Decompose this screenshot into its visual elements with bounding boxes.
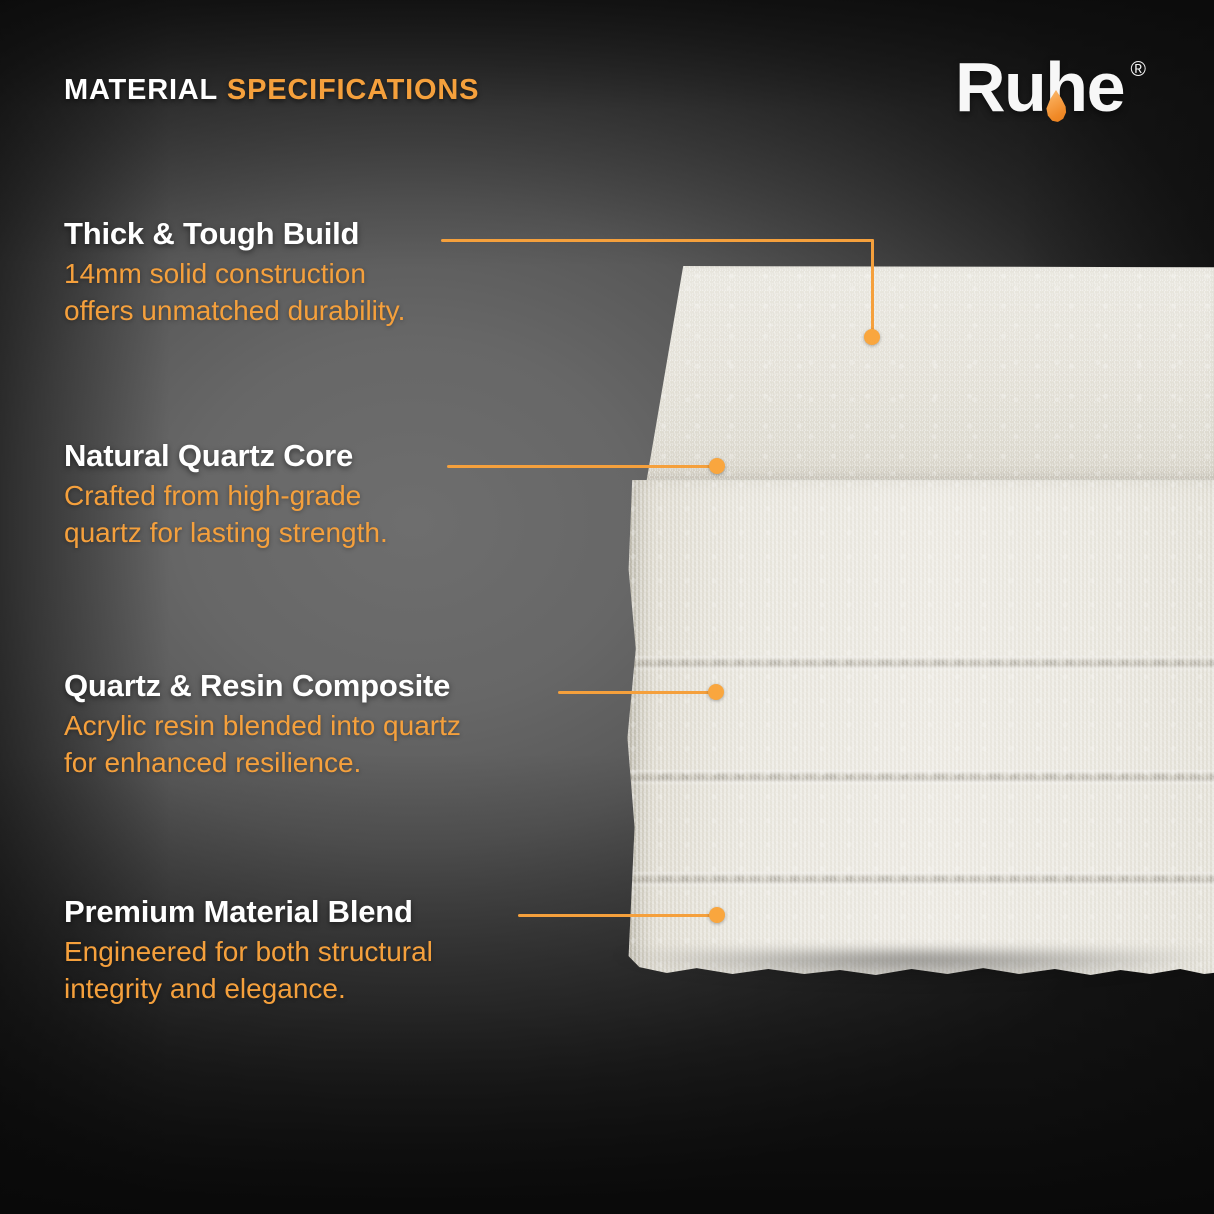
feature-callout-thick-tough-build: Thick & Tough Build 14mm solid construct… [64,218,405,329]
slab-top-face [622,266,1214,484]
material-specifications-poster: MATERIAL SPECIFICATIONS Ruhe ® Thick & T… [0,0,1214,1214]
page-title-primary: MATERIAL [64,74,218,106]
feature-title: Thick & Tough Build [64,218,405,251]
registered-trademark-icon: ® [1131,58,1146,82]
connector-line-2 [447,465,719,468]
connector-line-1 [441,239,874,242]
feature-description: Crafted from high-grade quartz for lasti… [64,478,388,552]
feature-callout-quartz-resin-composite: Quartz & Resin Composite Acrylic resin b… [64,670,461,781]
connector-dot-1 [864,329,880,345]
brand-name: Ruhe [955,52,1124,122]
feature-description: Acrylic resin blended into quartz for en… [64,708,461,782]
feature-title: Premium Material Blend [64,896,433,929]
page-title-accent: SPECIFICATIONS [227,74,479,106]
feature-description: 14mm solid construction offers unmatched… [64,256,405,330]
connector-line-4 [518,914,719,917]
slab-drop-shadow [612,952,1214,998]
connector-dot-2 [709,458,725,474]
slab-layer-seam [625,770,1214,786]
page-title: MATERIAL SPECIFICATIONS [64,76,479,105]
slab-layer-seam [625,656,1214,672]
feature-title: Natural Quartz Core [64,440,388,473]
feature-callout-natural-quartz-core: Natural Quartz Core Crafted from high-gr… [64,440,388,551]
slab-front-face [625,480,1214,976]
slab-layer-seam [625,872,1214,888]
connector-dot-3 [708,684,724,700]
connector-line-1-vertical [871,239,874,339]
quartz-slab-image [600,252,1214,992]
connector-dot-4 [709,907,725,923]
feature-title: Quartz & Resin Composite [64,670,461,703]
feature-description: Engineered for both structural integrity… [64,934,433,1008]
brand-logo[interactable]: Ruhe ® [946,52,1146,132]
connector-line-3 [558,691,718,694]
feature-callout-premium-material-blend: Premium Material Blend Engineered for bo… [64,896,433,1007]
